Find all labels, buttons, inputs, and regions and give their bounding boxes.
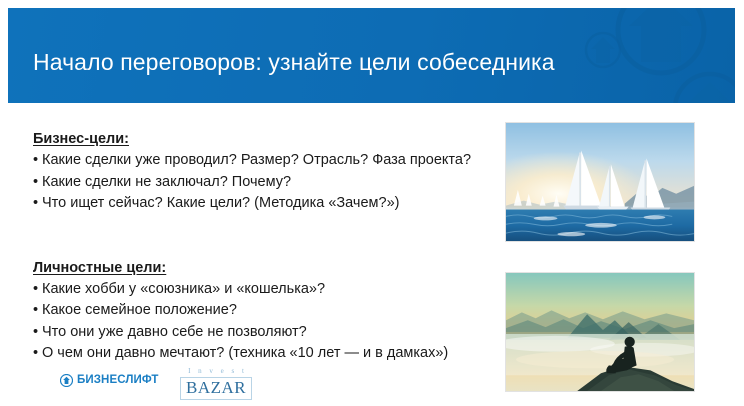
block-heading: Бизнес-цели: (33, 130, 488, 149)
house-arrow-circle-small-icon (583, 30, 623, 70)
invest-bazar-logo[interactable]: I n v e s t BAZAR (180, 367, 252, 400)
list-item-label: Какие сделки не заключал? Почему? (42, 174, 291, 190)
sailing-regatta-photo (505, 122, 695, 242)
list-item-label: Какие сделки уже проводил? Размер? Отрас… (42, 152, 471, 168)
bullet-marker: • (33, 322, 42, 344)
bullet-marker: • (33, 279, 42, 301)
man-on-cliff-sunset-photo (505, 272, 695, 392)
list-item: •Что они уже давно себе не позволяют? (33, 322, 488, 344)
list-item: •Что ищет сейчас? Какие цели? (Методика … (33, 193, 488, 215)
bullet-marker: • (33, 172, 42, 194)
list-item: •О чем они давно мечтают? (техника «10 л… (33, 343, 488, 365)
bizneslift-logo-text: БИЗНЕСЛИФТ (77, 374, 158, 387)
bullet-marker: • (33, 343, 42, 365)
block-spacer (33, 215, 488, 259)
bullet-marker: • (33, 150, 42, 172)
list-item: •Какое семейное положение? (33, 300, 488, 322)
list-item-label: Что ищет сейчас? Какие цели? (Методика «… (42, 195, 399, 211)
content-text-column: Бизнес-цели: •Какие сделки уже проводил?… (33, 130, 488, 365)
block-heading: Личностные цели: (33, 259, 488, 278)
bullet-marker: • (33, 300, 42, 322)
list-item-label: О чем они давно мечтают? (техника «10 ле… (42, 345, 448, 361)
circle-elevator-icon (60, 374, 73, 387)
page-title: Начало переговоров: узнайте цели собесед… (33, 49, 555, 76)
invest-bazar-logo-box: BAZAR (180, 377, 252, 400)
slide-header-band: Начало переговоров: узнайте цели собесед… (8, 8, 735, 103)
list-item: •Какие сделки не заключал? Почему? (33, 172, 488, 194)
list-item: •Какие сделки уже проводил? Размер? Отра… (33, 150, 488, 172)
content-block-personal-goals: Личностные цели: •Какие хобби у «союзник… (33, 259, 488, 365)
list-item-label: Какие хобби у «союзника» и «кошелька»? (42, 281, 325, 297)
house-arrow-circle-medium-icon (667, 66, 735, 103)
invest-bazar-logo-text: BAZAR (186, 379, 246, 397)
bizneslift-logo[interactable]: БИЗНЕСЛИФТ (60, 374, 158, 387)
content-block-business-goals: Бизнес-цели: •Какие сделки уже проводил?… (33, 130, 488, 215)
bullet-marker: • (33, 193, 42, 215)
invest-bazar-logo-tagline: I n v e s t (183, 367, 252, 376)
list-item: •Какие хобби у «союзника» и «кошелька»? (33, 279, 488, 301)
slide-canvas: Начало переговоров: узнайте цели собесед… (0, 0, 744, 406)
list-item-label: Что они уже давно себе не позволяют? (42, 324, 307, 340)
list-item-label: Какое семейное положение? (42, 302, 237, 318)
